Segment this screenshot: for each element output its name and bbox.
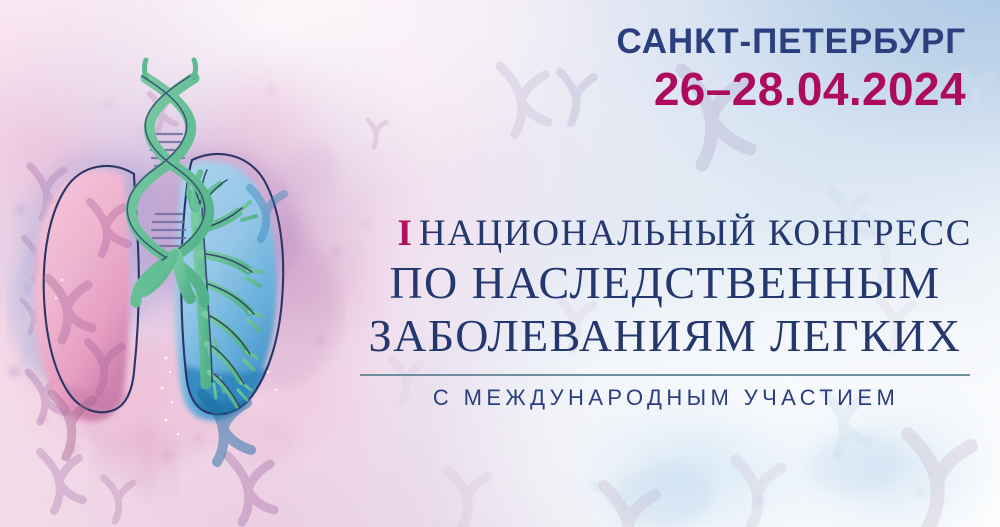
roman-numeral: I [398, 213, 414, 254]
chromosome-icon [560, 72, 594, 123]
title-line-3: ЗАБОЛЕВАНИЯМ ЛЕГКИХ [358, 309, 972, 362]
title-line-1-text: НАЦИОНАЛЬНЫЙ КОНГРЕСС [419, 213, 972, 254]
city-label: САНКТ-ПЕТЕРБУРГ [616, 24, 966, 61]
dates-label: 26–28.04.2024 [616, 64, 966, 116]
chromosome-icon [500, 66, 548, 134]
lungs-dna-illustration [6, 42, 346, 472]
chromosome-icon [368, 120, 386, 147]
title-block: IНАЦИОНАЛЬНЫЙ КОНГРЕСС ПО НАСЛЕДСТВЕННЫМ… [358, 214, 972, 411]
chromosome-icon [962, 70, 992, 116]
header-block: САНКТ-ПЕТЕРБУРГ 26–28.04.2024 [616, 24, 966, 115]
chromosome-icon [448, 470, 487, 527]
congress-banner: САНКТ-ПЕТЕРБУРГ 26–28.04.2024 IНАЦИОНАЛЬ… [0, 0, 1000, 527]
title-line-2: ПО НАСЛЕДСТВЕННЫМ [358, 256, 972, 309]
title-line-1: IНАЦИОНАЛЬНЫЙ КОНГРЕСС [358, 214, 972, 254]
chromosome-icon [104, 478, 133, 521]
title-divider [360, 374, 970, 376]
subtitle-label: С МЕЖДУНАРОДНЫМ УЧАСТИЕМ [358, 385, 972, 411]
